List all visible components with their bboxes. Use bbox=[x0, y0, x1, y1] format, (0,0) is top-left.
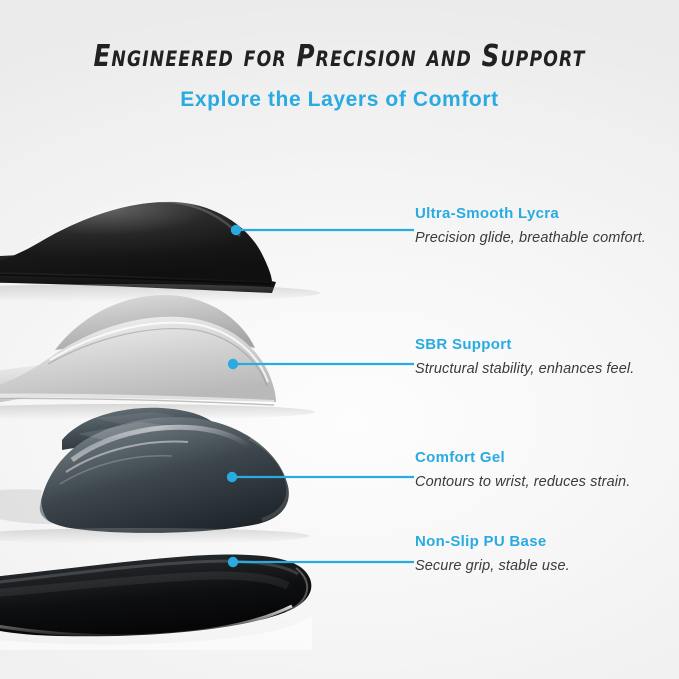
callout-sbr: SBR Support Structural stability, enhanc… bbox=[415, 336, 665, 379]
product-layers-infographic: Engineered for Precision and Support Exp… bbox=[0, 0, 679, 679]
callout-gel: Comfort Gel Contours to wrist, reduces s… bbox=[415, 449, 665, 492]
callout-lycra: Ultra-Smooth Lycra Precision glide, brea… bbox=[415, 205, 665, 248]
callout-title-lycra: Ultra-Smooth Lycra bbox=[415, 205, 665, 223]
callout-title-sbr: SBR Support bbox=[415, 336, 665, 354]
callout-description-gel: Contours to wrist, reduces strain. bbox=[415, 467, 665, 492]
callout-title-gel: Comfort Gel bbox=[415, 449, 665, 467]
callout-description-pu-base: Secure grip, stable use. bbox=[415, 551, 665, 576]
callout-title-pu-base: Non-Slip PU Base bbox=[415, 533, 665, 551]
callout-pu-base: Non-Slip PU Base Secure grip, stable use… bbox=[415, 533, 665, 576]
page-subtitle: Explore the Layers of Comfort bbox=[0, 74, 679, 112]
callout-description-sbr: Structural stability, enhances feel. bbox=[415, 354, 665, 379]
heading-block: Engineered for Precision and Support Exp… bbox=[0, 0, 679, 112]
page-title: Engineered for Precision and Support bbox=[61, 0, 618, 74]
callout-description-lycra: Precision glide, breathable comfort. bbox=[415, 223, 665, 248]
